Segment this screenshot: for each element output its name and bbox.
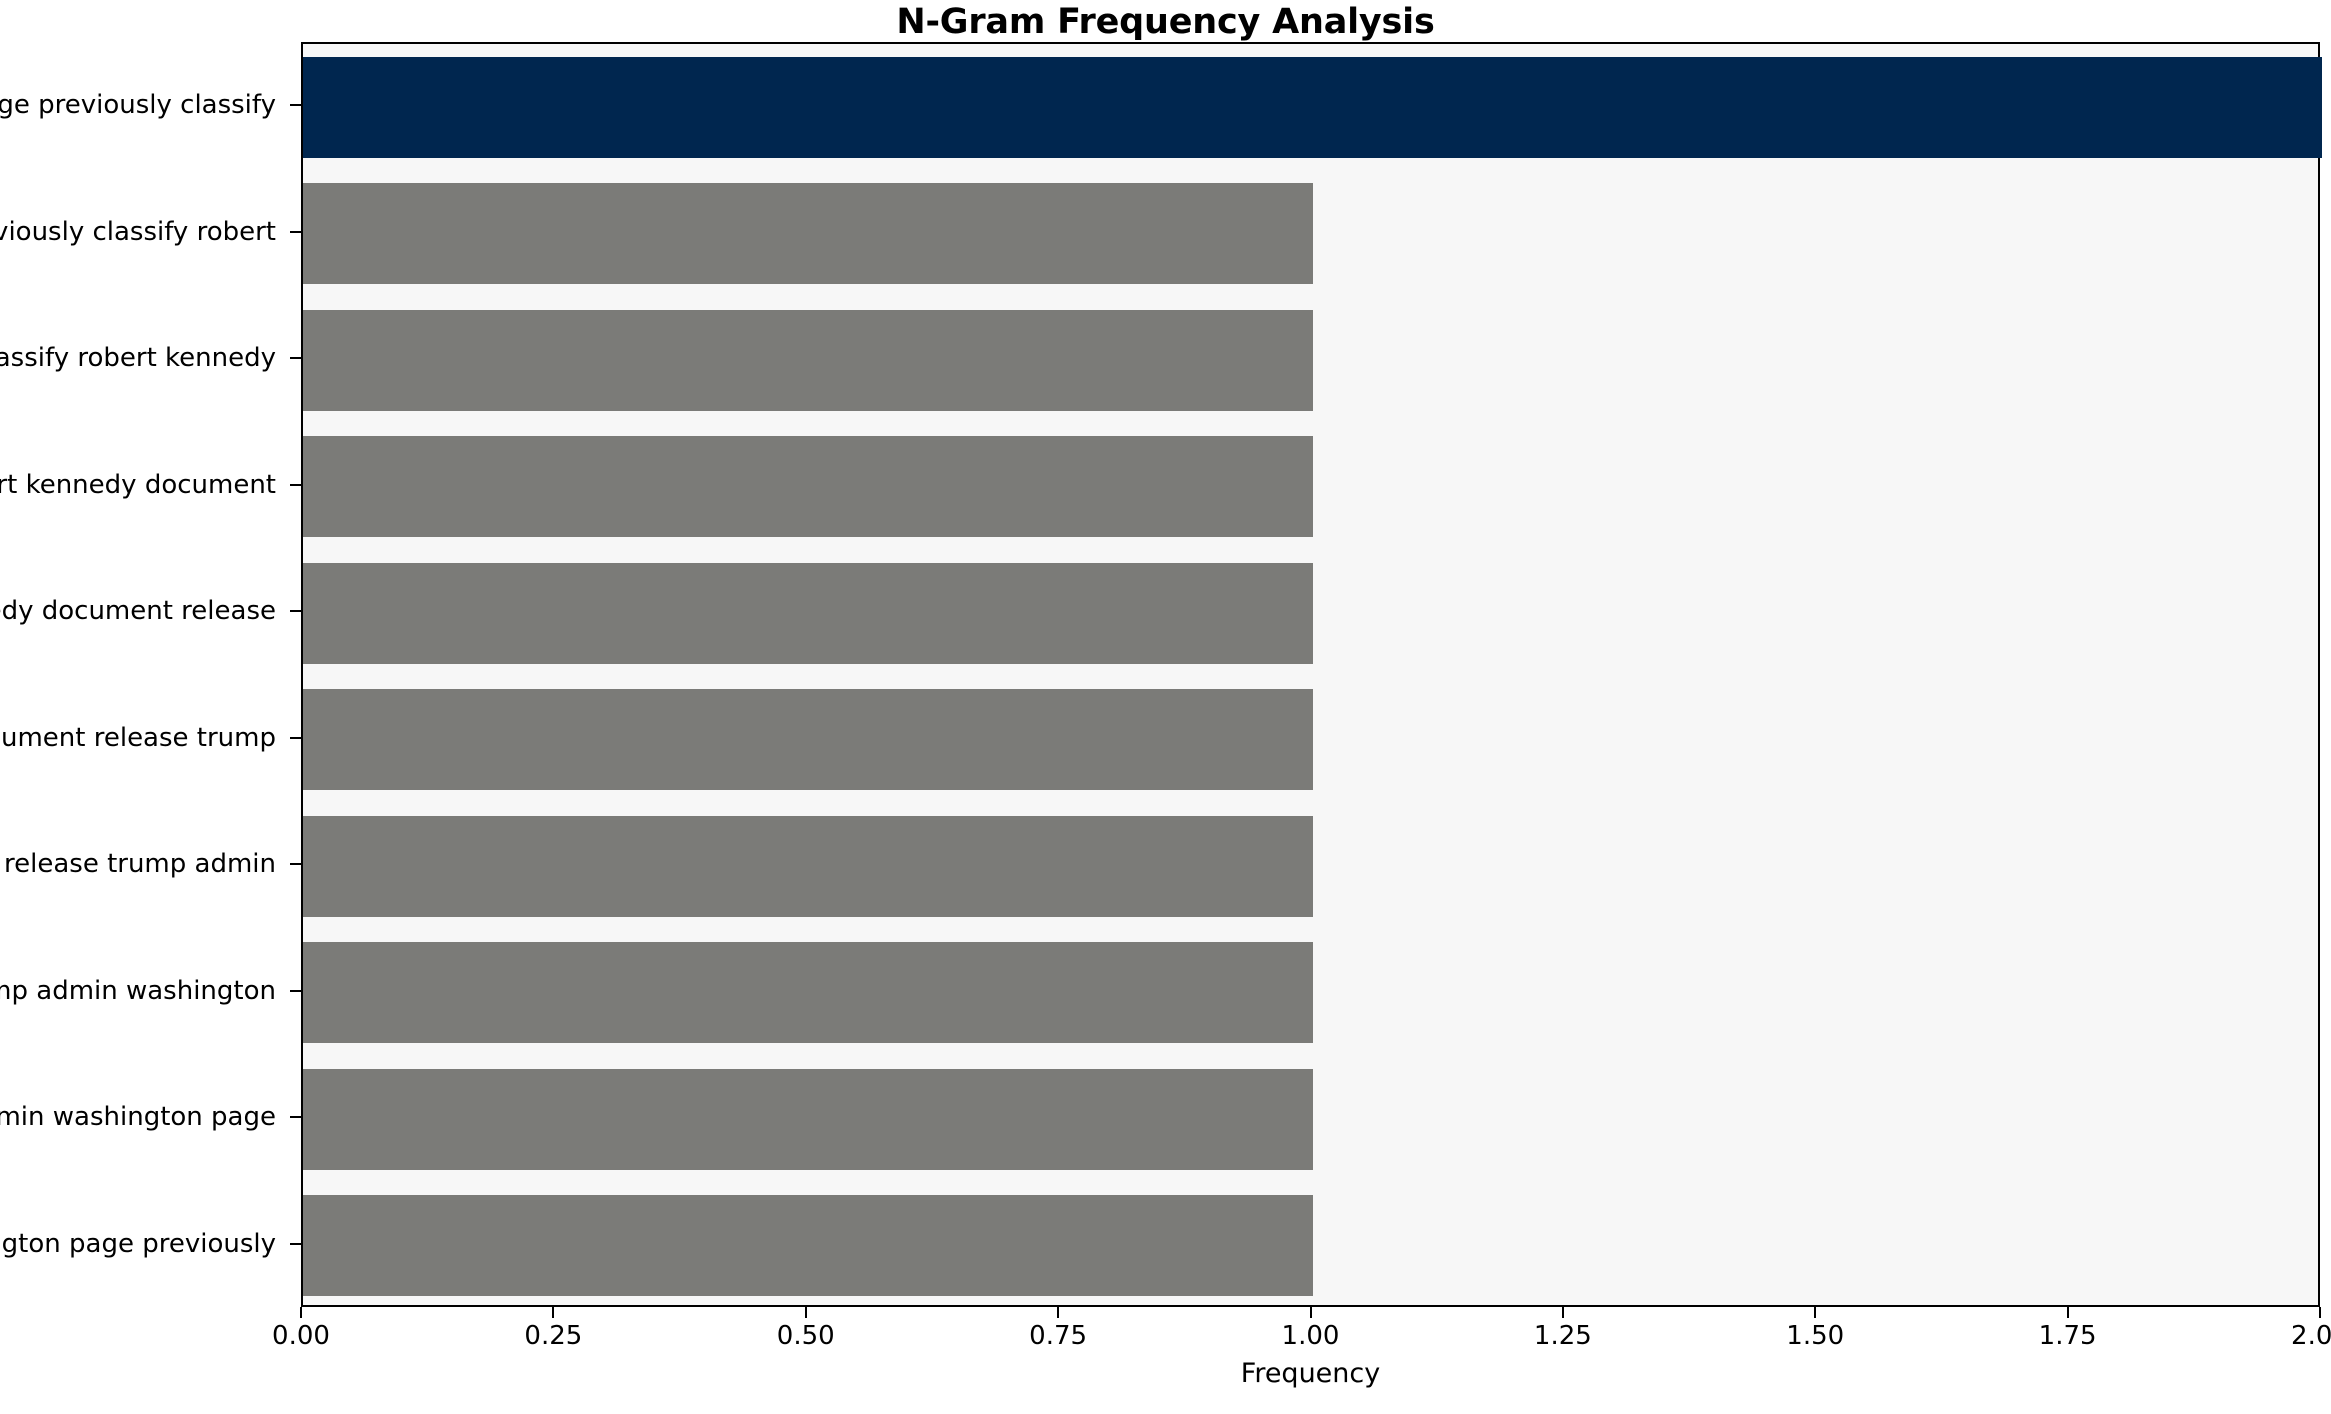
x-tick-mark — [552, 1307, 554, 1318]
x-tick-label: 1.75 — [2039, 1323, 2097, 1349]
bar — [303, 310, 1313, 411]
x-tick-label: 0.00 — [272, 1323, 330, 1349]
plot-area — [301, 42, 2320, 1307]
bar — [303, 689, 1313, 790]
x-axis-title: Frequency — [301, 1358, 2320, 1389]
y-tick-label: page previously classify — [0, 92, 276, 118]
chart-title: N-Gram Frequency Analysis — [0, 2, 2331, 42]
y-tick-mark — [290, 484, 301, 486]
x-tick-mark — [2067, 1307, 2069, 1318]
y-axis-tick-labels: page previously classifypreviously class… — [0, 42, 301, 1307]
x-tick-mark — [1310, 1307, 1312, 1318]
x-tick-label: 1.25 — [1534, 1323, 1592, 1349]
x-tick-label: 0.25 — [524, 1323, 582, 1349]
y-tick-label: kennedy document release — [0, 598, 276, 624]
y-tick-label: previously classify robert — [0, 219, 276, 245]
y-tick-mark — [290, 737, 301, 739]
y-tick-mark — [290, 1116, 301, 1118]
y-tick-mark — [290, 863, 301, 865]
bar — [303, 563, 1313, 664]
y-tick-label: document release trump — [0, 725, 276, 751]
x-tick-label: 0.75 — [1029, 1323, 1087, 1349]
x-tick-mark — [805, 1307, 807, 1318]
bars-layer — [303, 44, 2318, 1305]
x-tick-mark — [300, 1307, 302, 1318]
x-tick-label: 0.50 — [777, 1323, 835, 1349]
y-tick-label: trump admin washington — [0, 978, 276, 1004]
y-tick-mark — [290, 990, 301, 992]
y-tick-label: washington page previously — [0, 1231, 276, 1257]
y-tick-label: release trump admin — [4, 851, 276, 877]
x-tick-label: 2.00 — [2291, 1323, 2331, 1349]
y-tick-label: admin washington page — [0, 1104, 276, 1130]
bar — [303, 436, 1313, 537]
bar — [303, 816, 1313, 917]
x-tick-mark — [1562, 1307, 1564, 1318]
y-tick-mark — [290, 610, 301, 612]
bar — [303, 1195, 1313, 1296]
y-tick-label: classify robert kennedy — [0, 345, 276, 371]
chart-figure: N-Gram Frequency Analysis page previousl… — [0, 0, 2331, 1414]
x-tick-mark — [1814, 1307, 1816, 1318]
y-tick-mark — [290, 357, 301, 359]
y-tick-mark — [290, 1243, 301, 1245]
bar — [303, 57, 2322, 158]
x-tick-label: 1.00 — [1282, 1323, 1340, 1349]
y-tick-label: robert kennedy document — [0, 472, 276, 498]
x-tick-mark — [1057, 1307, 1059, 1318]
bar — [303, 942, 1313, 1043]
bar — [303, 183, 1313, 284]
bar — [303, 1069, 1313, 1170]
y-tick-mark — [290, 231, 301, 233]
x-tick-mark — [2319, 1307, 2321, 1318]
y-tick-mark — [290, 104, 301, 106]
x-tick-label: 1.50 — [1786, 1323, 1844, 1349]
